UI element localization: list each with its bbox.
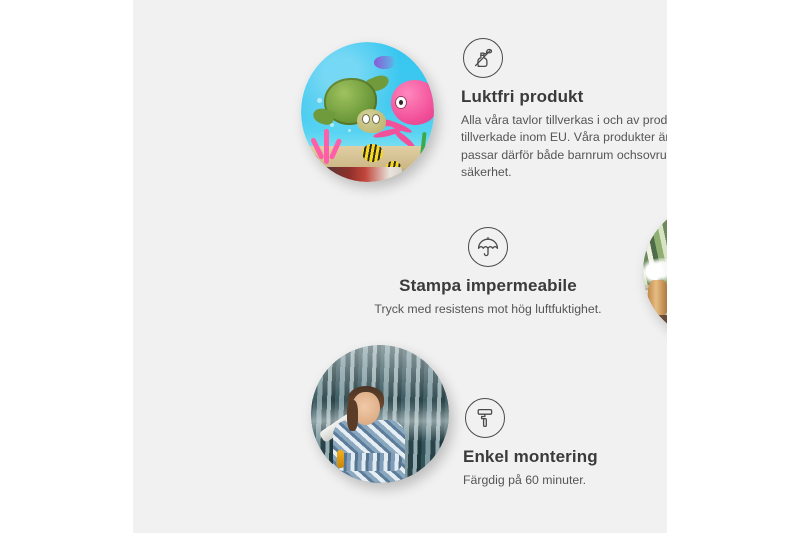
umbrella-icon [468, 227, 508, 267]
bubble-icon [317, 98, 322, 103]
roller-grip-shape [337, 450, 344, 468]
underwater-cartoon-mural-photo [301, 42, 434, 182]
bubble-icon [348, 129, 351, 132]
octopus-head-shape [391, 80, 434, 125]
gold-vase-shape [648, 280, 667, 316]
screenshot-canvas: Luktfri produkt Alla våra tavlor tillver… [0, 0, 800, 533]
feature-title: Stampa impermeabile [343, 276, 633, 296]
feature-description: Tryck med resistens mot hög luftfuktighe… [343, 301, 633, 318]
turtle-head-shape [357, 109, 386, 133]
feature-block-odourless: Luktfri produkt Alla våra tavlor tillver… [461, 38, 667, 182]
feature-title: Luktfri produkt [461, 87, 667, 107]
bathroom-botanical-wallpaper-photo [643, 203, 667, 340]
woman-hair-side-shape [347, 400, 358, 430]
feature-block-easy-install: Enkel montering Färgdig på 60 minuter. [463, 398, 667, 489]
purple-fish-shape [374, 56, 394, 69]
feature-panel: Luktfri produkt Alla våra tavlor tillver… [133, 0, 667, 533]
feature-title: Enkel montering [463, 447, 667, 467]
paint-roller-icon [465, 398, 505, 438]
woman-with-paint-roller-photo [311, 345, 449, 483]
seabed-foreground-shape [320, 167, 402, 182]
no-fragrance-spray-bottle-icon [463, 38, 503, 78]
feature-description: Färgdig på 60 minuter. [463, 472, 667, 489]
woman-arm-shape [336, 453, 402, 471]
pink-coral-shape [309, 126, 344, 164]
feature-block-waterproof: Stampa impermeabile Tryck med resistens … [343, 227, 633, 318]
wood-vanity-shape [651, 315, 667, 340]
feature-description: Alla våra tavlor tillverkas i och av pro… [461, 112, 667, 182]
